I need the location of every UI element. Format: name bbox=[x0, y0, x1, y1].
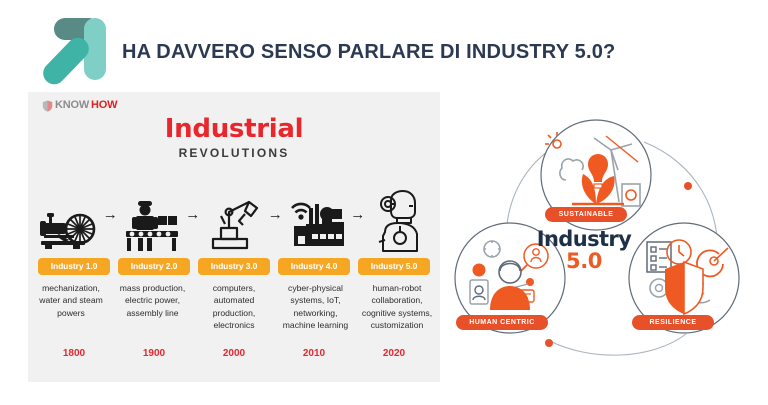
arrow-2-icon: → bbox=[186, 176, 200, 252]
node-badge-sustainable[interactable]: SUSTAINABLE bbox=[545, 207, 627, 222]
industrial-revolutions-panel: KNOWHOW Industrial REVOLUTIONS bbox=[28, 92, 440, 382]
header: HA DAVVERO SENSO PARLARE DI INDUSTRY 5.0… bbox=[0, 0, 768, 92]
page-title: HA DAVVERO SENSO PARLARE DI INDUSTRY 5.0… bbox=[122, 41, 615, 64]
industry-year-1: 1800 bbox=[38, 348, 110, 359]
industry-year-2: 1900 bbox=[118, 348, 190, 359]
industry-badge-4[interactable]: Industry 4.0 bbox=[278, 258, 350, 275]
knowhow-know-text: KNOW bbox=[55, 99, 89, 111]
industry-badge-5[interactable]: Industry 5.0 bbox=[358, 258, 430, 275]
panel-subtitle: REVOLUTIONS bbox=[28, 146, 440, 160]
industry-badge-1[interactable]: Industry 1.0 bbox=[38, 258, 110, 275]
industry-badge-3[interactable]: Industry 3.0 bbox=[198, 258, 270, 275]
industry-year-4: 2010 bbox=[278, 348, 350, 359]
steam-engine-icon bbox=[38, 176, 100, 252]
industry-description-5: human-robot collaboration, cognitive sys… bbox=[358, 282, 436, 332]
panel-title: Industrial bbox=[28, 114, 440, 144]
knowhow-logo: KNOWHOW bbox=[42, 99, 117, 111]
arrow-3-icon: → bbox=[268, 176, 282, 252]
slide-root: HA DAVVERO SENSO PARLARE DI INDUSTRY 5.0… bbox=[0, 0, 768, 405]
industry-badge-2[interactable]: Industry 2.0 bbox=[118, 258, 190, 275]
industry-description-1: mechanization, water and steam powers bbox=[32, 282, 110, 332]
industry-description-4: cyber-physical systems, IoT, networking,… bbox=[277, 282, 355, 332]
humanoid-robot-icon bbox=[368, 176, 430, 252]
industry-year-5: 2020 bbox=[358, 348, 430, 359]
assembly-line-worker-icon bbox=[121, 176, 183, 252]
node-badge-resilience[interactable]: RESILIENCE bbox=[632, 315, 714, 330]
arrow-1-icon: → bbox=[103, 176, 117, 252]
industry-years-row: 1800 1900 2000 2010 2020 bbox=[38, 348, 430, 359]
smart-factory-icon bbox=[286, 176, 348, 252]
robot-arm-icon bbox=[203, 176, 265, 252]
shield-icon bbox=[42, 99, 53, 111]
arrow-logo-icon bbox=[40, 14, 114, 86]
industry-description-3: computers, automated production, electro… bbox=[195, 282, 273, 332]
revolution-icons-row: → bbox=[38, 170, 430, 252]
node-badge-human-centric[interactable]: HUMAN CENTRIC bbox=[456, 315, 548, 330]
arrow-4-icon: → bbox=[351, 176, 365, 252]
industry-descriptions-row: mechanization, water and steam powers ma… bbox=[32, 282, 436, 332]
industry-badges-row: Industry 1.0 Industry 2.0 Industry 3.0 I… bbox=[38, 258, 430, 275]
knowhow-how-text: HOW bbox=[91, 99, 117, 111]
industry-description-2: mass production, electric power, assembl… bbox=[114, 282, 192, 332]
industry-year-3: 2000 bbox=[198, 348, 270, 359]
